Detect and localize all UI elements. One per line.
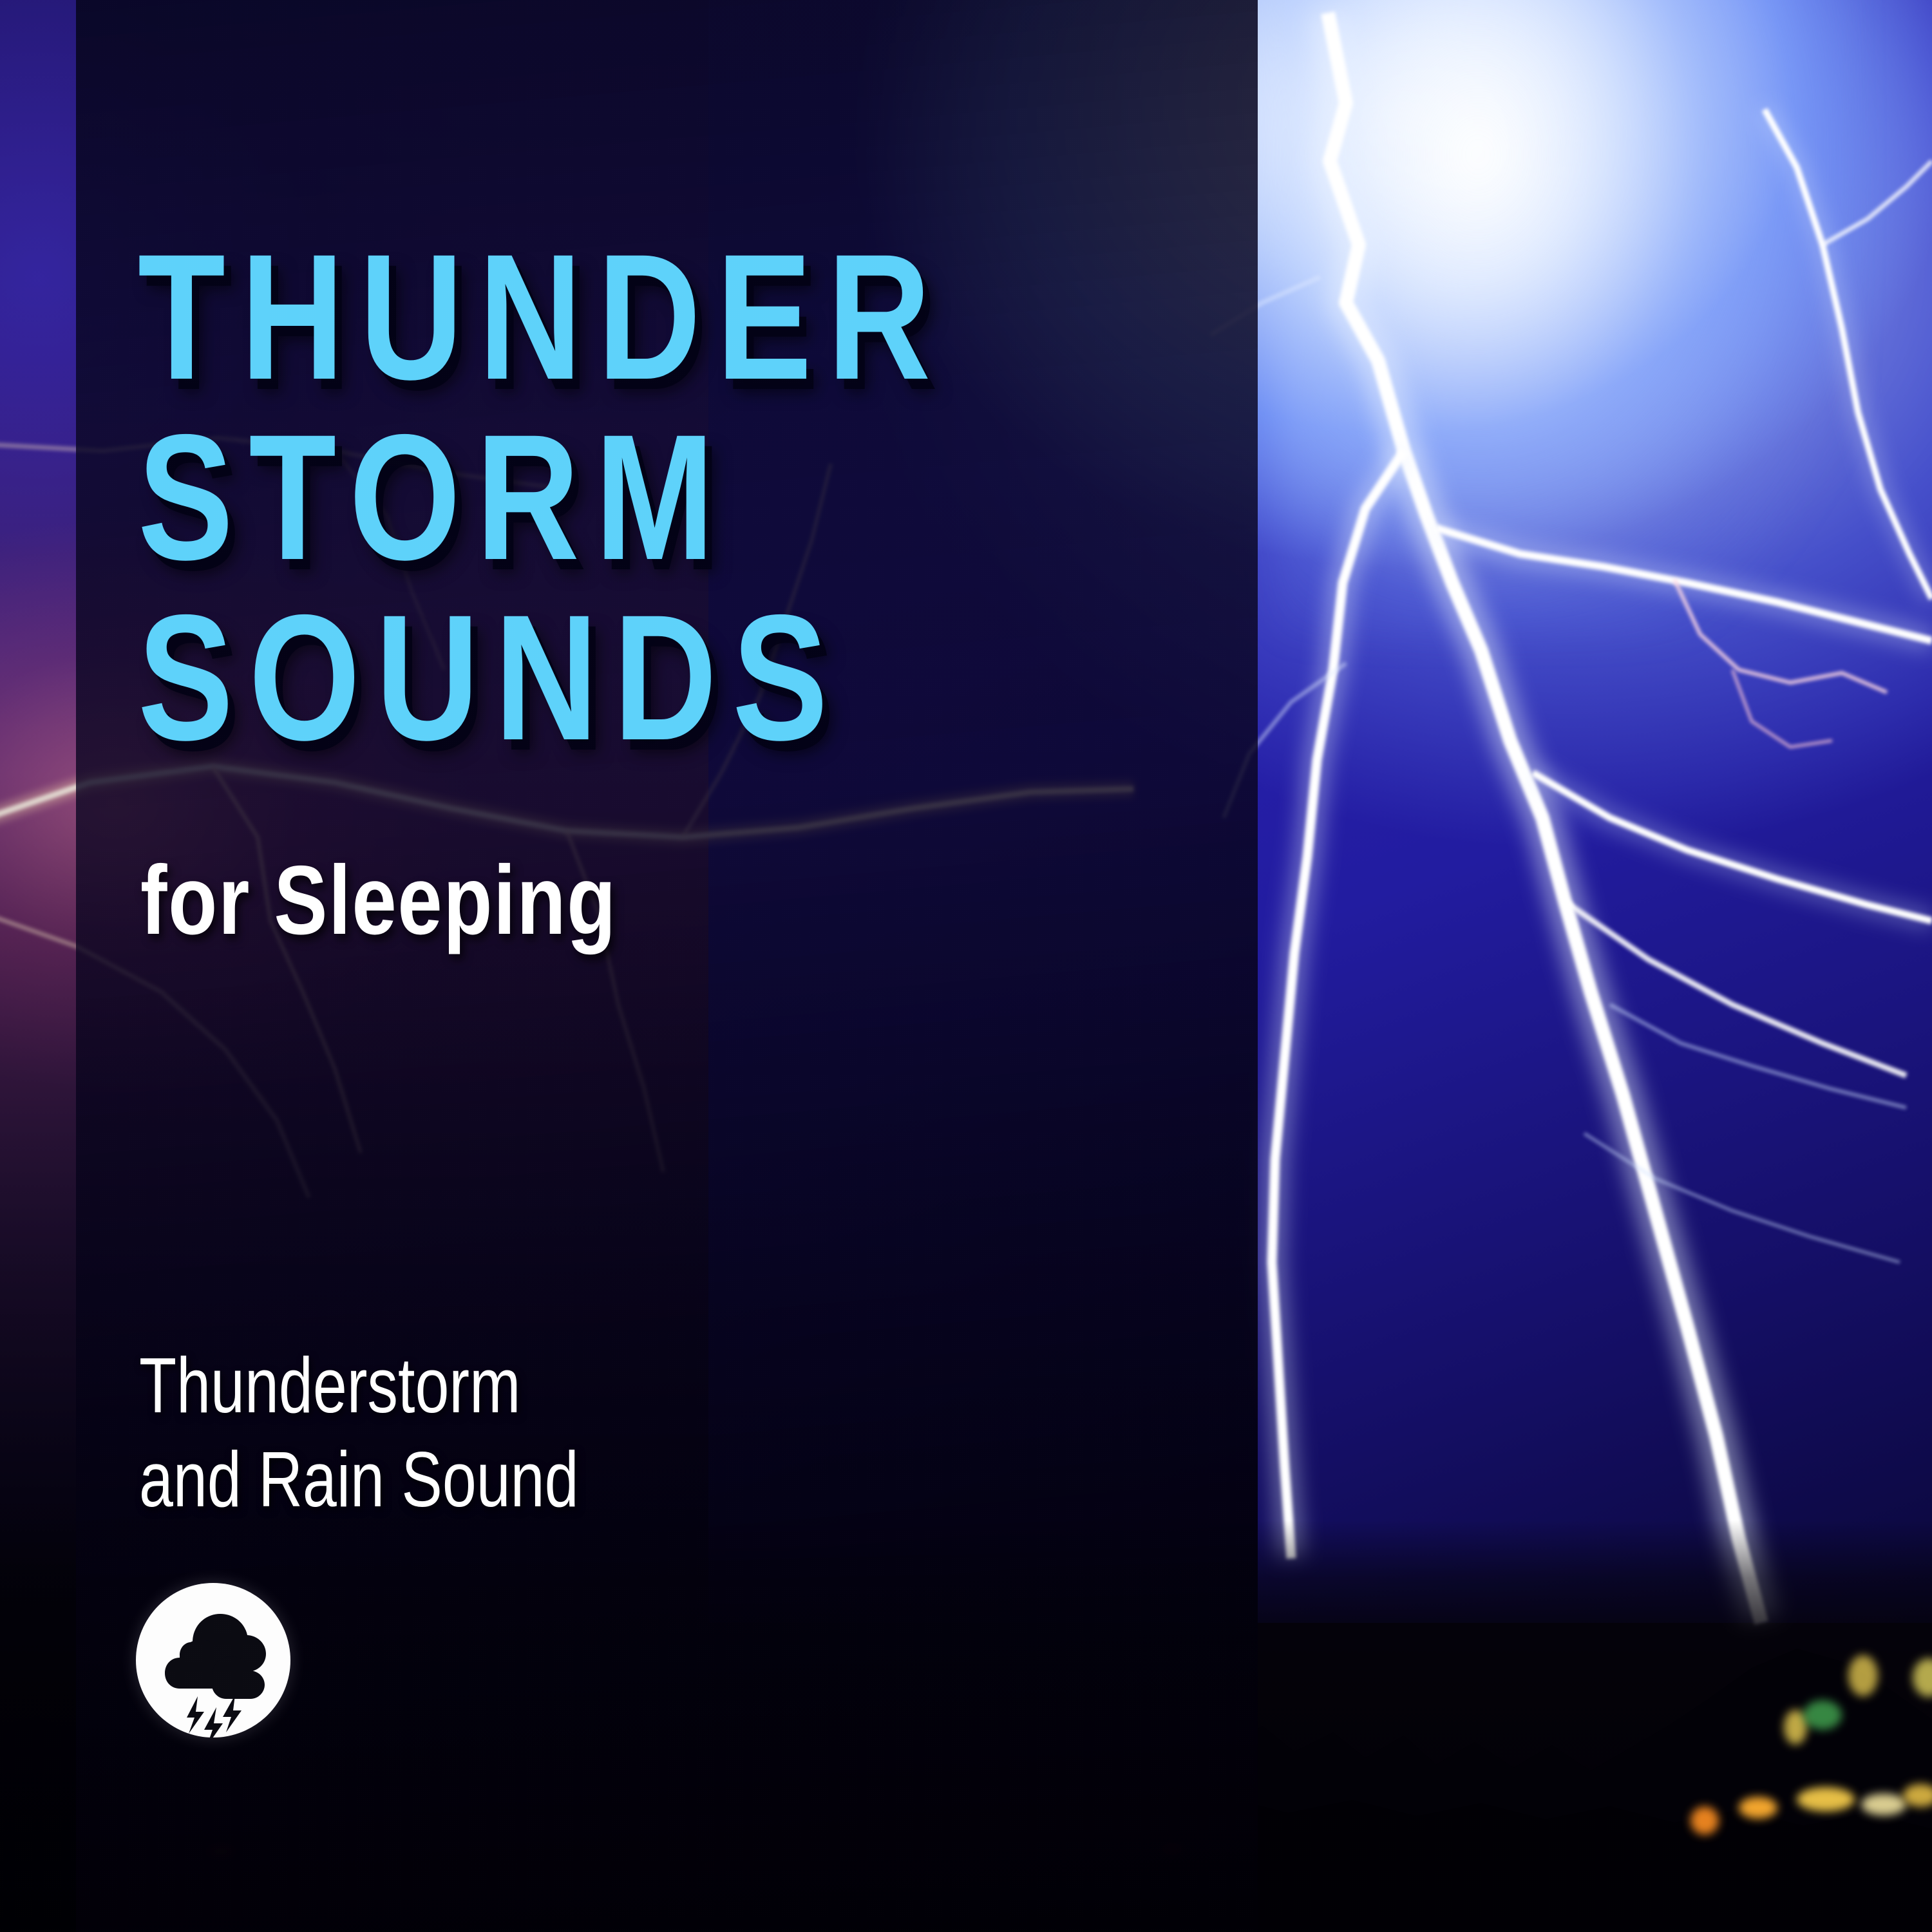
city-light — [1797, 1787, 1855, 1812]
album-cover: THUNDER STORM SOUNDS for Sleeping Thunde… — [0, 0, 1932, 1932]
city-light — [1861, 1794, 1906, 1815]
storm-cloud-icon — [136, 1583, 290, 1738]
artist-line-2: and Rain Sound — [139, 1435, 579, 1523]
title-line-2: STORM — [138, 407, 1045, 587]
city-light — [1739, 1797, 1777, 1819]
city-light — [1848, 1655, 1878, 1696]
album-title: THUNDER STORM SOUNDS — [138, 227, 1271, 768]
thunderstorm-logo-badge — [136, 1583, 290, 1738]
bolt-main-primary — [1328, 13, 1761, 1623]
bolt-secondary-left — [1272, 451, 1404, 1558]
left-edge-shade — [0, 0, 76, 1932]
city-light — [1803, 1700, 1842, 1730]
album-subtitle: for Sleeping — [140, 849, 617, 952]
city-light — [1690, 1806, 1719, 1835]
title-line-3: SOUNDS — [138, 587, 1045, 768]
artist-name: Thunderstormand Rain Sound — [139, 1338, 579, 1526]
bolt-upper-right-arc — [1765, 109, 1932, 599]
artist-line-1: Thunderstorm — [139, 1341, 520, 1429]
title-line-1: THUNDER — [138, 227, 1045, 407]
